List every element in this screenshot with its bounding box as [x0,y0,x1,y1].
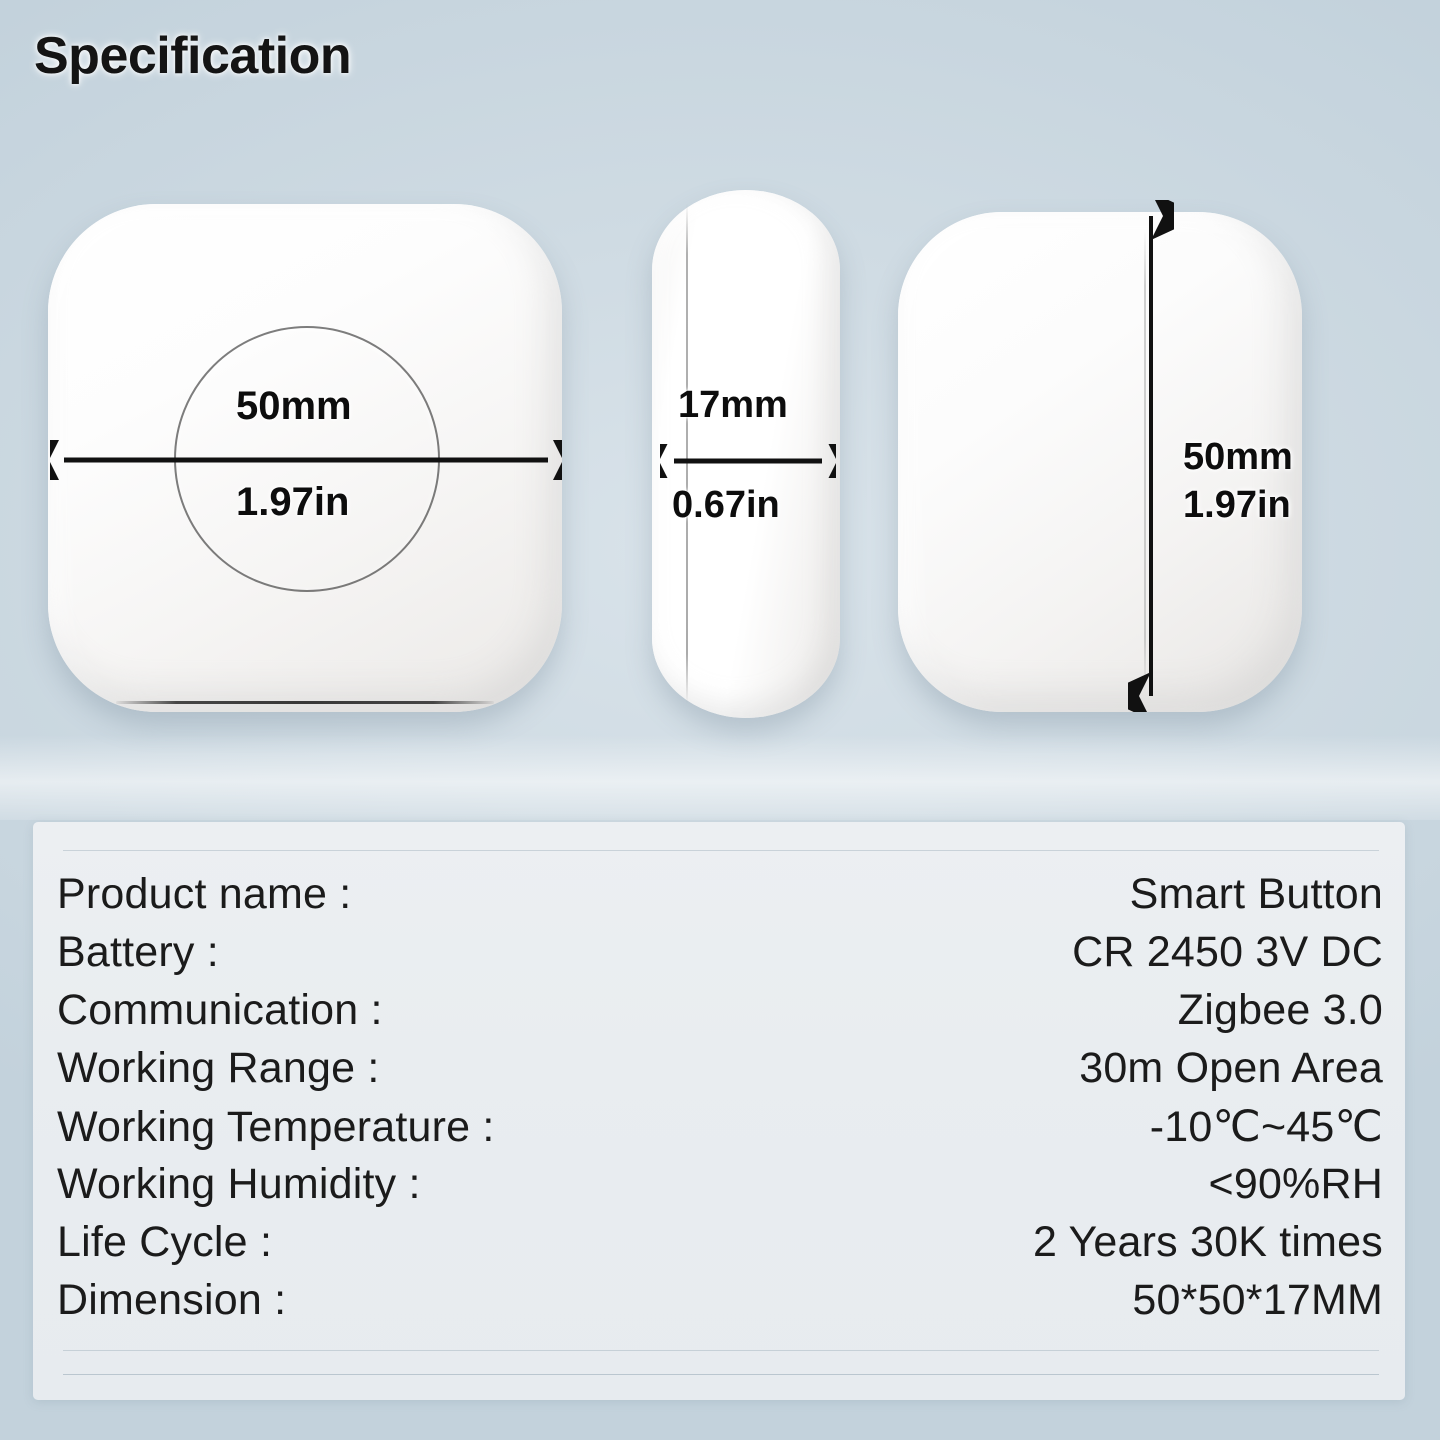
page-title: Specification [34,26,351,86]
front-bottom-seam [116,701,494,704]
spec-value: -10℃~45℃ [1150,1102,1383,1152]
specification-table: Product name : Smart Button Battery : CR… [57,870,1383,1334]
spec-label: Communication : [57,986,383,1035]
panel-divider-bottom-1 [63,1350,1379,1351]
spec-value: 30m Open Area [1079,1044,1383,1093]
panel-divider-top [63,850,1379,851]
spec-value: 50*50*17MM [1132,1276,1383,1325]
spec-label: Working Temperature : [57,1103,495,1152]
panel-divider-bottom-2 [63,1374,1379,1375]
thickness-dimension-arrow-side [660,444,836,478]
table-row: Dimension : 50*50*17MM [57,1276,1383,1334]
width-dimension-arrow-front [50,440,562,480]
front-dimension-in: 1.97in [236,480,349,525]
spec-label: Life Cycle : [57,1218,272,1267]
table-row: Communication : Zigbee 3.0 [57,986,1383,1044]
specification-panel: Product name : Smart Button Battery : CR… [33,822,1405,1400]
table-row: Life Cycle : 2 Years 30K times [57,1218,1383,1276]
table-row: Battery : CR 2450 3V DC [57,928,1383,986]
spec-value: Smart Button [1130,870,1383,919]
side-dimension-mm: 17mm [678,384,788,427]
spec-sheet-page: Specification 50mm 1.97in 17mm 0.67in [0,0,1440,1440]
spec-value: Zigbee 3.0 [1178,986,1383,1035]
side-dimension-in: 0.67in [672,484,780,527]
height-dimension-arrow-angled [1128,200,1174,712]
front-dimension-mm: 50mm [236,384,352,429]
table-row: Working Temperature : -10℃~45℃ [57,1102,1383,1160]
floor-backdrop [0,735,1440,820]
table-row: Product name : Smart Button [57,870,1383,928]
spec-value: 2 Years 30K times [1033,1218,1383,1267]
spec-label: Battery : [57,928,219,977]
spec-value: CR 2450 3V DC [1072,928,1383,977]
spec-label: Working Range : [57,1044,379,1093]
table-row: Working Humidity : <90%RH [57,1160,1383,1218]
spec-value: <90%RH [1209,1160,1383,1209]
angled-dimension-in: 1.97in [1183,484,1291,527]
angled-dimension-mm: 50mm [1183,436,1293,479]
spec-label: Product name : [57,870,351,919]
table-row: Working Range : 30m Open Area [57,1044,1383,1102]
spec-label: Working Humidity : [57,1160,421,1209]
spec-label: Dimension : [57,1276,286,1325]
